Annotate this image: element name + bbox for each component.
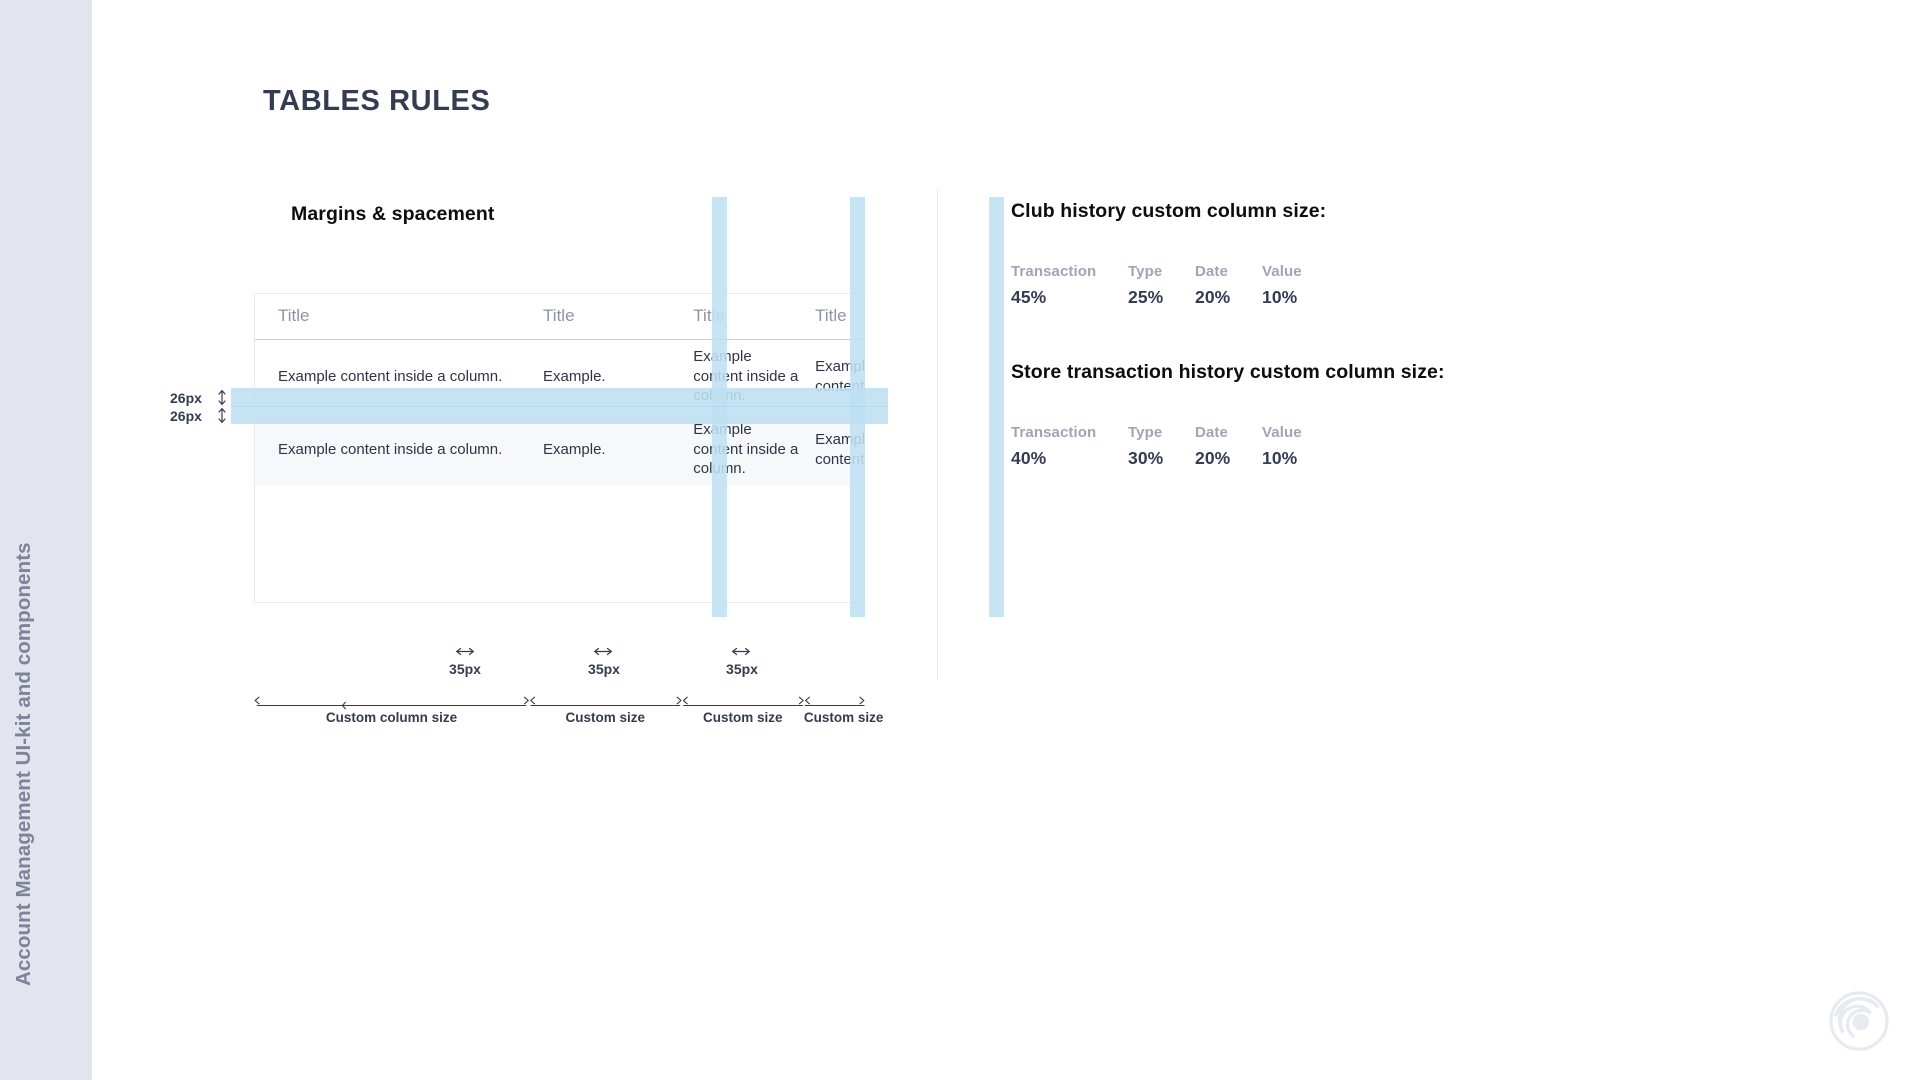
spec-value: 20% bbox=[1195, 287, 1262, 308]
spec-group-heading: Store transaction history custom column … bbox=[1011, 361, 1651, 384]
horizontal-double-arrow-icon bbox=[455, 646, 475, 657]
spec-columns: Transaction 45% Type 25% Date 20% Value … bbox=[1011, 263, 1651, 308]
table-header-cell-2: Title bbox=[529, 294, 681, 339]
spec-column-date: Date 20% bbox=[1195, 424, 1262, 469]
gutter-measurement-label-2: 35px bbox=[574, 661, 634, 677]
spec-label: Date bbox=[1195, 263, 1262, 280]
spec-column-value: Value 10% bbox=[1262, 424, 1329, 469]
vertical-measurement-label-2: 26px bbox=[170, 408, 202, 424]
dimension-tick-arrowheads-icon bbox=[254, 694, 865, 716]
spec-columns: Transaction 40% Type 30% Date 20% Value … bbox=[1011, 424, 1651, 469]
left-sidebar: Account Management UI-kit and components bbox=[0, 0, 92, 1080]
spec-value: 10% bbox=[1262, 448, 1329, 469]
spec-column-type: Type 30% bbox=[1128, 424, 1195, 469]
spiral-swirl-logo bbox=[1828, 990, 1890, 1052]
spec-column-transaction: Transaction 40% bbox=[1011, 424, 1128, 469]
column-gutter-overlay-3 bbox=[989, 197, 1004, 617]
sidebar-vertical-title: Account Management UI-kit and components bbox=[12, 898, 36, 990]
table-header-row: Title Title Title Title bbox=[255, 294, 864, 340]
vertical-double-arrow-icon bbox=[216, 407, 228, 424]
spec-label: Transaction bbox=[1011, 263, 1128, 280]
horizontal-double-arrow-icon bbox=[731, 646, 751, 657]
margins-spacement-heading: Margins & spacement bbox=[291, 203, 494, 226]
gutter-measurement-label-3: 35px bbox=[712, 661, 772, 677]
row-spacing-overlay bbox=[231, 388, 888, 424]
table-diagram-wrapper: Title Title Title Title Example content … bbox=[254, 293, 865, 603]
example-table: Title Title Title Title Example content … bbox=[254, 293, 865, 603]
table-header-cell-1: Title bbox=[255, 294, 529, 339]
page-title: TABLES RULES bbox=[263, 85, 490, 118]
spec-value: 10% bbox=[1262, 287, 1329, 308]
spec-group-store-transaction-history: Store transaction history custom column … bbox=[1011, 361, 1651, 469]
spec-label: Value bbox=[1262, 424, 1329, 441]
spec-label: Date bbox=[1195, 424, 1262, 441]
spec-group-club-history: Club history custom column size: Transac… bbox=[1011, 200, 1651, 308]
spec-value: 30% bbox=[1128, 448, 1195, 469]
spec-group-heading: Club history custom column size: bbox=[1011, 200, 1651, 223]
spec-label: Value bbox=[1262, 263, 1329, 280]
spec-column-value: Value 10% bbox=[1262, 263, 1329, 308]
spec-value: 45% bbox=[1011, 287, 1128, 308]
panel-divider bbox=[937, 189, 938, 679]
table-header-cell-3: Title bbox=[681, 294, 803, 339]
column-dimension-bar: Custom column size Custom size Custom si… bbox=[254, 694, 865, 734]
vertical-measurement-label-1: 26px bbox=[170, 390, 202, 406]
right-panel: Club history custom column size: Transac… bbox=[1011, 200, 1651, 522]
spec-column-transaction: Transaction 45% bbox=[1011, 263, 1128, 308]
vertical-double-arrow-icon bbox=[216, 389, 228, 406]
row-spacing-overlay-divider bbox=[231, 406, 888, 407]
spec-label: Type bbox=[1128, 263, 1195, 280]
spec-label: Transaction bbox=[1011, 424, 1128, 441]
spec-label: Type bbox=[1128, 424, 1195, 441]
spec-value: 40% bbox=[1011, 448, 1128, 469]
spec-value: 25% bbox=[1128, 287, 1195, 308]
spec-column-date: Date 20% bbox=[1195, 263, 1262, 308]
spec-column-type: Type 25% bbox=[1128, 263, 1195, 308]
horizontal-double-arrow-icon bbox=[593, 646, 613, 657]
spec-value: 20% bbox=[1195, 448, 1262, 469]
gutter-measurement-label-1: 35px bbox=[435, 661, 495, 677]
